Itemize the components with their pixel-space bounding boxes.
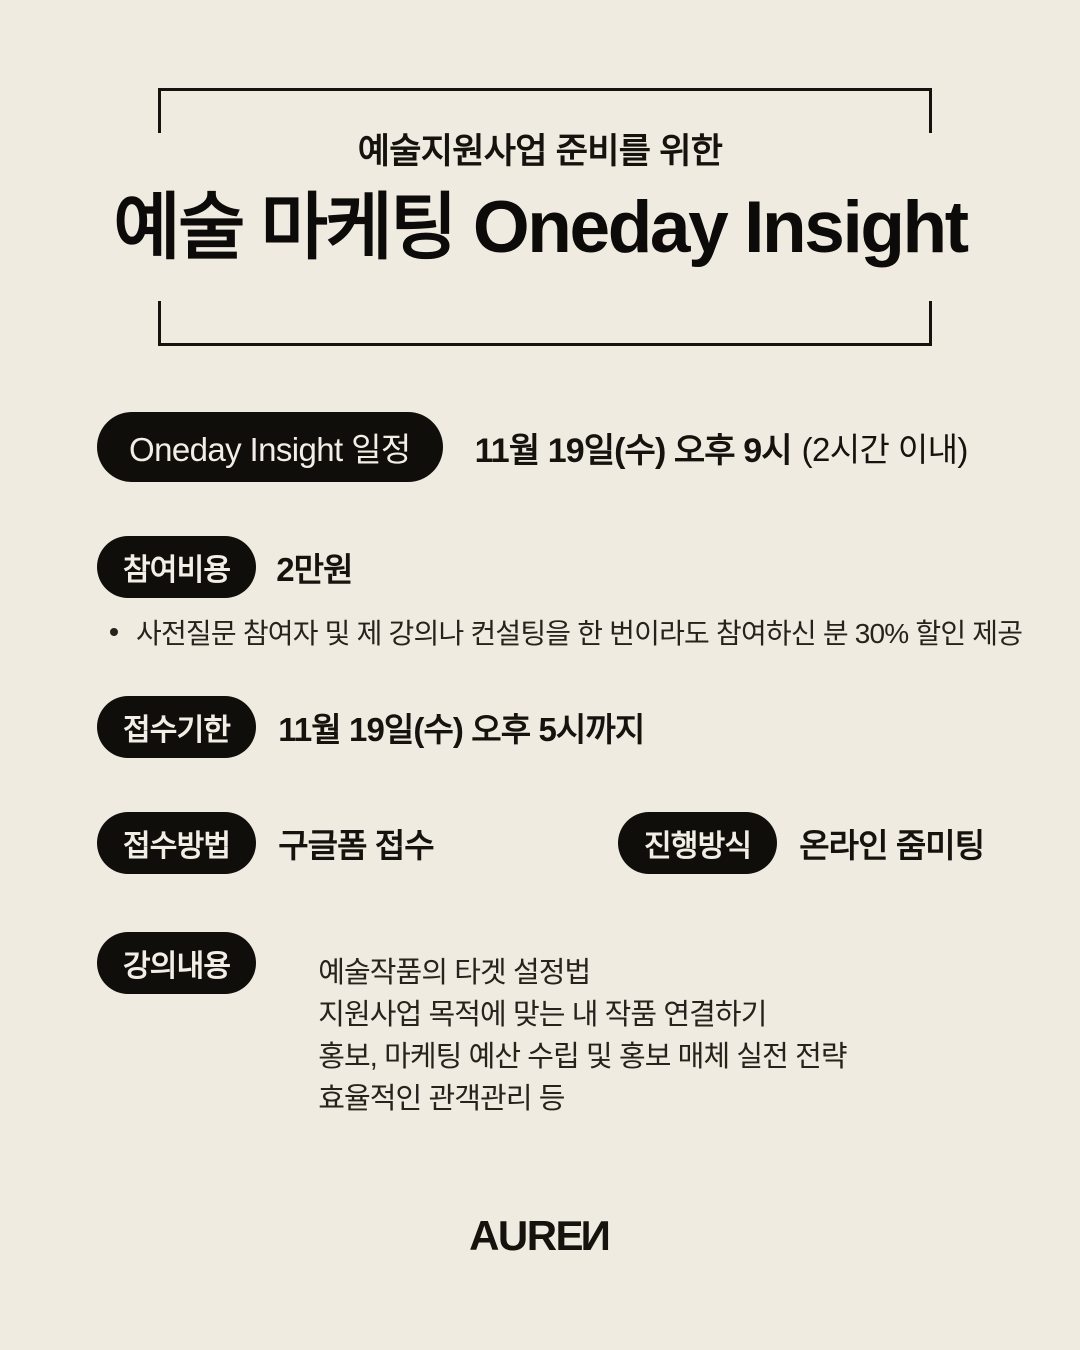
value-registration-method: 구글폼 접수: [278, 819, 434, 867]
bracket-corner-top-right: [929, 88, 932, 133]
value-schedule-datetime: 11월 19일(수) 오후 9시: [475, 423, 792, 472]
poster-canvas: 예술지원사업 준비를 위한 예술 마케팅 Oneday Insight Oned…: [0, 0, 1080, 1350]
value-deadline-datetime: 11월 19일(수) 오후 5시까지: [278, 703, 644, 751]
value-delivery-format: 온라인 줌미팅: [799, 819, 984, 867]
poster-subtitle: 예술지원사업 준비를 위한: [0, 131, 1080, 173]
info-row-fee: 참여비용 2만원: [97, 536, 353, 598]
info-row-schedule: Oneday Insight 일정 11월 19일(수) 오후 9시 (2시간 …: [97, 412, 968, 482]
bullet-dot-icon: [110, 628, 118, 636]
curriculum-item: 홍보, 마케팅 예산 수립 및 홍보 매체 실전 전략: [318, 1036, 846, 1078]
bracket-bottom-rule: [158, 343, 932, 346]
value-fee-amount: 2만원: [276, 543, 352, 591]
brand-logo-flipped-n: N: [582, 1212, 611, 1260]
info-row-delivery-format: 진행방식 온라인 줌미팅: [618, 812, 984, 874]
info-row-registration-method: 접수방법 구글폼 접수: [97, 812, 434, 874]
fee-discount-note: 사전질문 참여자 및 제 강의나 컨설팅을 한 번이라도 참여하신 분 30% …: [110, 612, 1022, 652]
label-pill-schedule: Oneday Insight 일정: [97, 412, 443, 482]
curriculum-list: 예술작품의 타겟 설정법지원사업 목적에 맞는 내 작품 연결하기홍보, 마케팅…: [278, 948, 846, 1120]
label-pill-fee: 참여비용: [97, 536, 256, 598]
label-pill-curriculum: 강의내용: [97, 932, 256, 994]
label-pill-deadline: 접수기한: [97, 696, 256, 758]
info-row-deadline: 접수기한 11월 19일(수) 오후 5시까지: [97, 696, 644, 758]
brand-logo: AUREN: [0, 1212, 1080, 1260]
brand-logo-part1: AURE: [469, 1212, 582, 1259]
label-pill-registration-method: 접수방법: [97, 812, 256, 874]
curriculum-item: 효율적인 관객관리 등: [318, 1078, 846, 1120]
curriculum-item: 예술작품의 타겟 설정법: [318, 952, 846, 994]
poster-title: 예술 마케팅 Oneday Insight: [0, 185, 1080, 271]
curriculum-item: 지원사업 목적에 맞는 내 작품 연결하기: [318, 994, 846, 1036]
fee-discount-note-text: 사전질문 참여자 및 제 강의나 컨설팅을 한 번이라도 참여하신 분 30% …: [136, 612, 1022, 652]
bracket-corner-top-left: [158, 88, 161, 133]
bracket-corner-bottom-left: [158, 301, 161, 346]
value-schedule-duration: (2시간 이내): [802, 423, 968, 471]
label-pill-delivery-format: 진행방식: [618, 812, 777, 874]
bracket-top-rule: [158, 88, 932, 91]
info-row-curriculum: 강의내용 예술작품의 타겟 설정법지원사업 목적에 맞는 내 작품 연결하기홍보…: [97, 932, 847, 1136]
bracket-corner-bottom-right: [929, 301, 932, 346]
brand-logo-text: AUREN: [469, 1212, 611, 1260]
